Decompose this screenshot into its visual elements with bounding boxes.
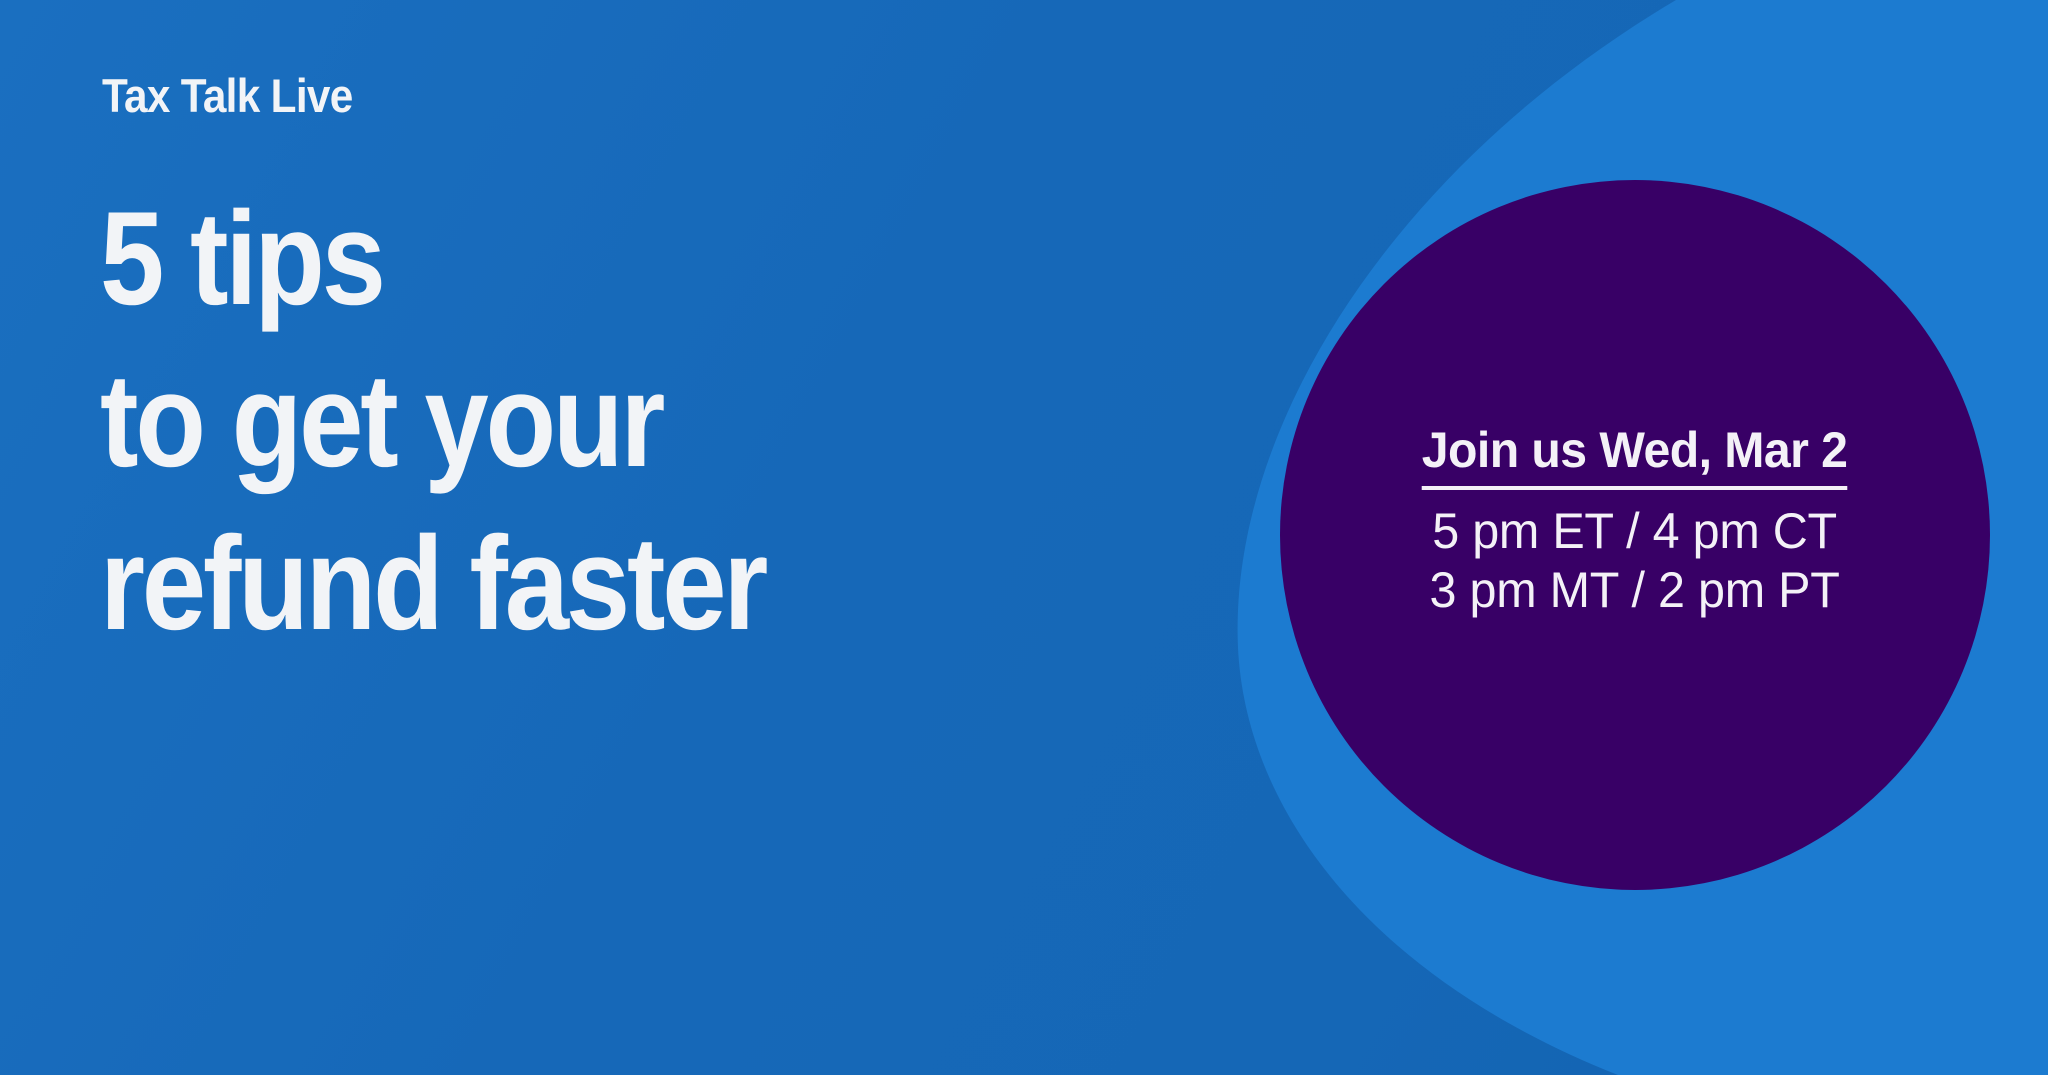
headline-line-2: to get your (100, 340, 765, 502)
badge-time-line-mountain-pacific: 3 pm MT / 2 pm PT (1421, 561, 1849, 620)
badge-content: Join us Wed, Mar 2 5 pm ET / 4 pm CT 3 p… (1388, 424, 1881, 620)
main-content: Tax Talk Live 5 tips to get your refund … (100, 0, 1100, 1075)
headline-line-3: refund faster (100, 503, 765, 665)
series-title: Tax Talk Live (102, 72, 353, 119)
badge-time-list: 5 pm ET / 4 pm CT 3 pm MT / 2 pm PT (1414, 502, 1855, 620)
event-time-badge: Join us Wed, Mar 2 5 pm ET / 4 pm CT 3 p… (1280, 180, 1990, 890)
badge-date-headline: Join us Wed, Mar 2 (1422, 424, 1848, 490)
page-title: 5 tips to get your refund faster (100, 178, 765, 665)
badge-time-line-eastern-central: 5 pm ET / 4 pm CT (1421, 502, 1849, 561)
headline-line-1: 5 tips (100, 178, 765, 340)
promo-graphic: Join us Wed, Mar 2 5 pm ET / 4 pm CT 3 p… (0, 0, 2048, 1075)
